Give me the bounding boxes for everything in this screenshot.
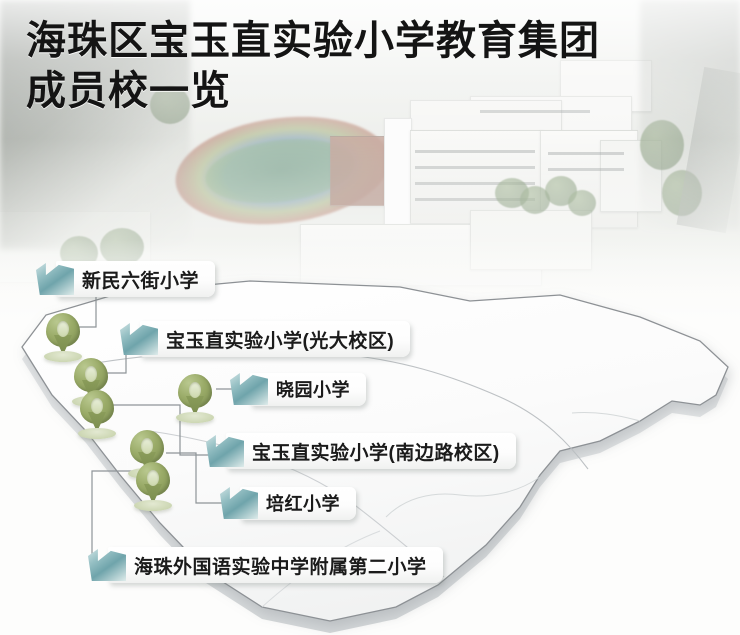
flag-icon bbox=[86, 546, 126, 584]
flag-icon bbox=[228, 370, 268, 408]
school-label-xiaoyuan[interactable]: 晓园小学 bbox=[228, 370, 366, 408]
school-label-text: 新民六街小学 bbox=[82, 266, 199, 293]
school-label-baoyuzhi-gd[interactable]: 宝玉直实验小学(光大校区) bbox=[118, 320, 410, 358]
poster-canvas: 海珠区宝玉直实验小学教育集团 成员校一览 bbox=[0, 0, 740, 635]
map-pin-icon[interactable] bbox=[136, 462, 170, 508]
school-label-text: 宝玉直实验小学(光大校区) bbox=[166, 326, 394, 353]
flag-icon bbox=[218, 484, 258, 522]
school-label-text: 晓园小学 bbox=[276, 376, 350, 402]
school-label-peihong[interactable]: 培红小学 bbox=[218, 484, 356, 522]
map-pin-icon[interactable] bbox=[46, 313, 80, 359]
map-pin-icon[interactable] bbox=[80, 390, 114, 436]
flag-icon bbox=[118, 320, 158, 358]
page-title: 海珠区宝玉直实验小学教育集团 成员校一览 bbox=[26, 16, 716, 116]
school-label-haiwai-2[interactable]: 海珠外国语实验中学附属第二小学 bbox=[86, 546, 443, 584]
school-label-text: 培红小学 bbox=[266, 490, 340, 516]
school-label-baoyuzhi-nbl[interactable]: 宝玉直实验小学(南边路校区) bbox=[204, 432, 516, 470]
map-pin-icon[interactable] bbox=[178, 374, 212, 420]
flag-icon bbox=[34, 260, 74, 298]
school-label-xinmin[interactable]: 新民六街小学 bbox=[34, 260, 215, 298]
flag-icon bbox=[204, 432, 244, 470]
school-label-text: 宝玉直实验小学(南边路校区) bbox=[252, 438, 500, 465]
school-label-text: 海珠外国语实验中学附属第二小学 bbox=[134, 552, 427, 579]
